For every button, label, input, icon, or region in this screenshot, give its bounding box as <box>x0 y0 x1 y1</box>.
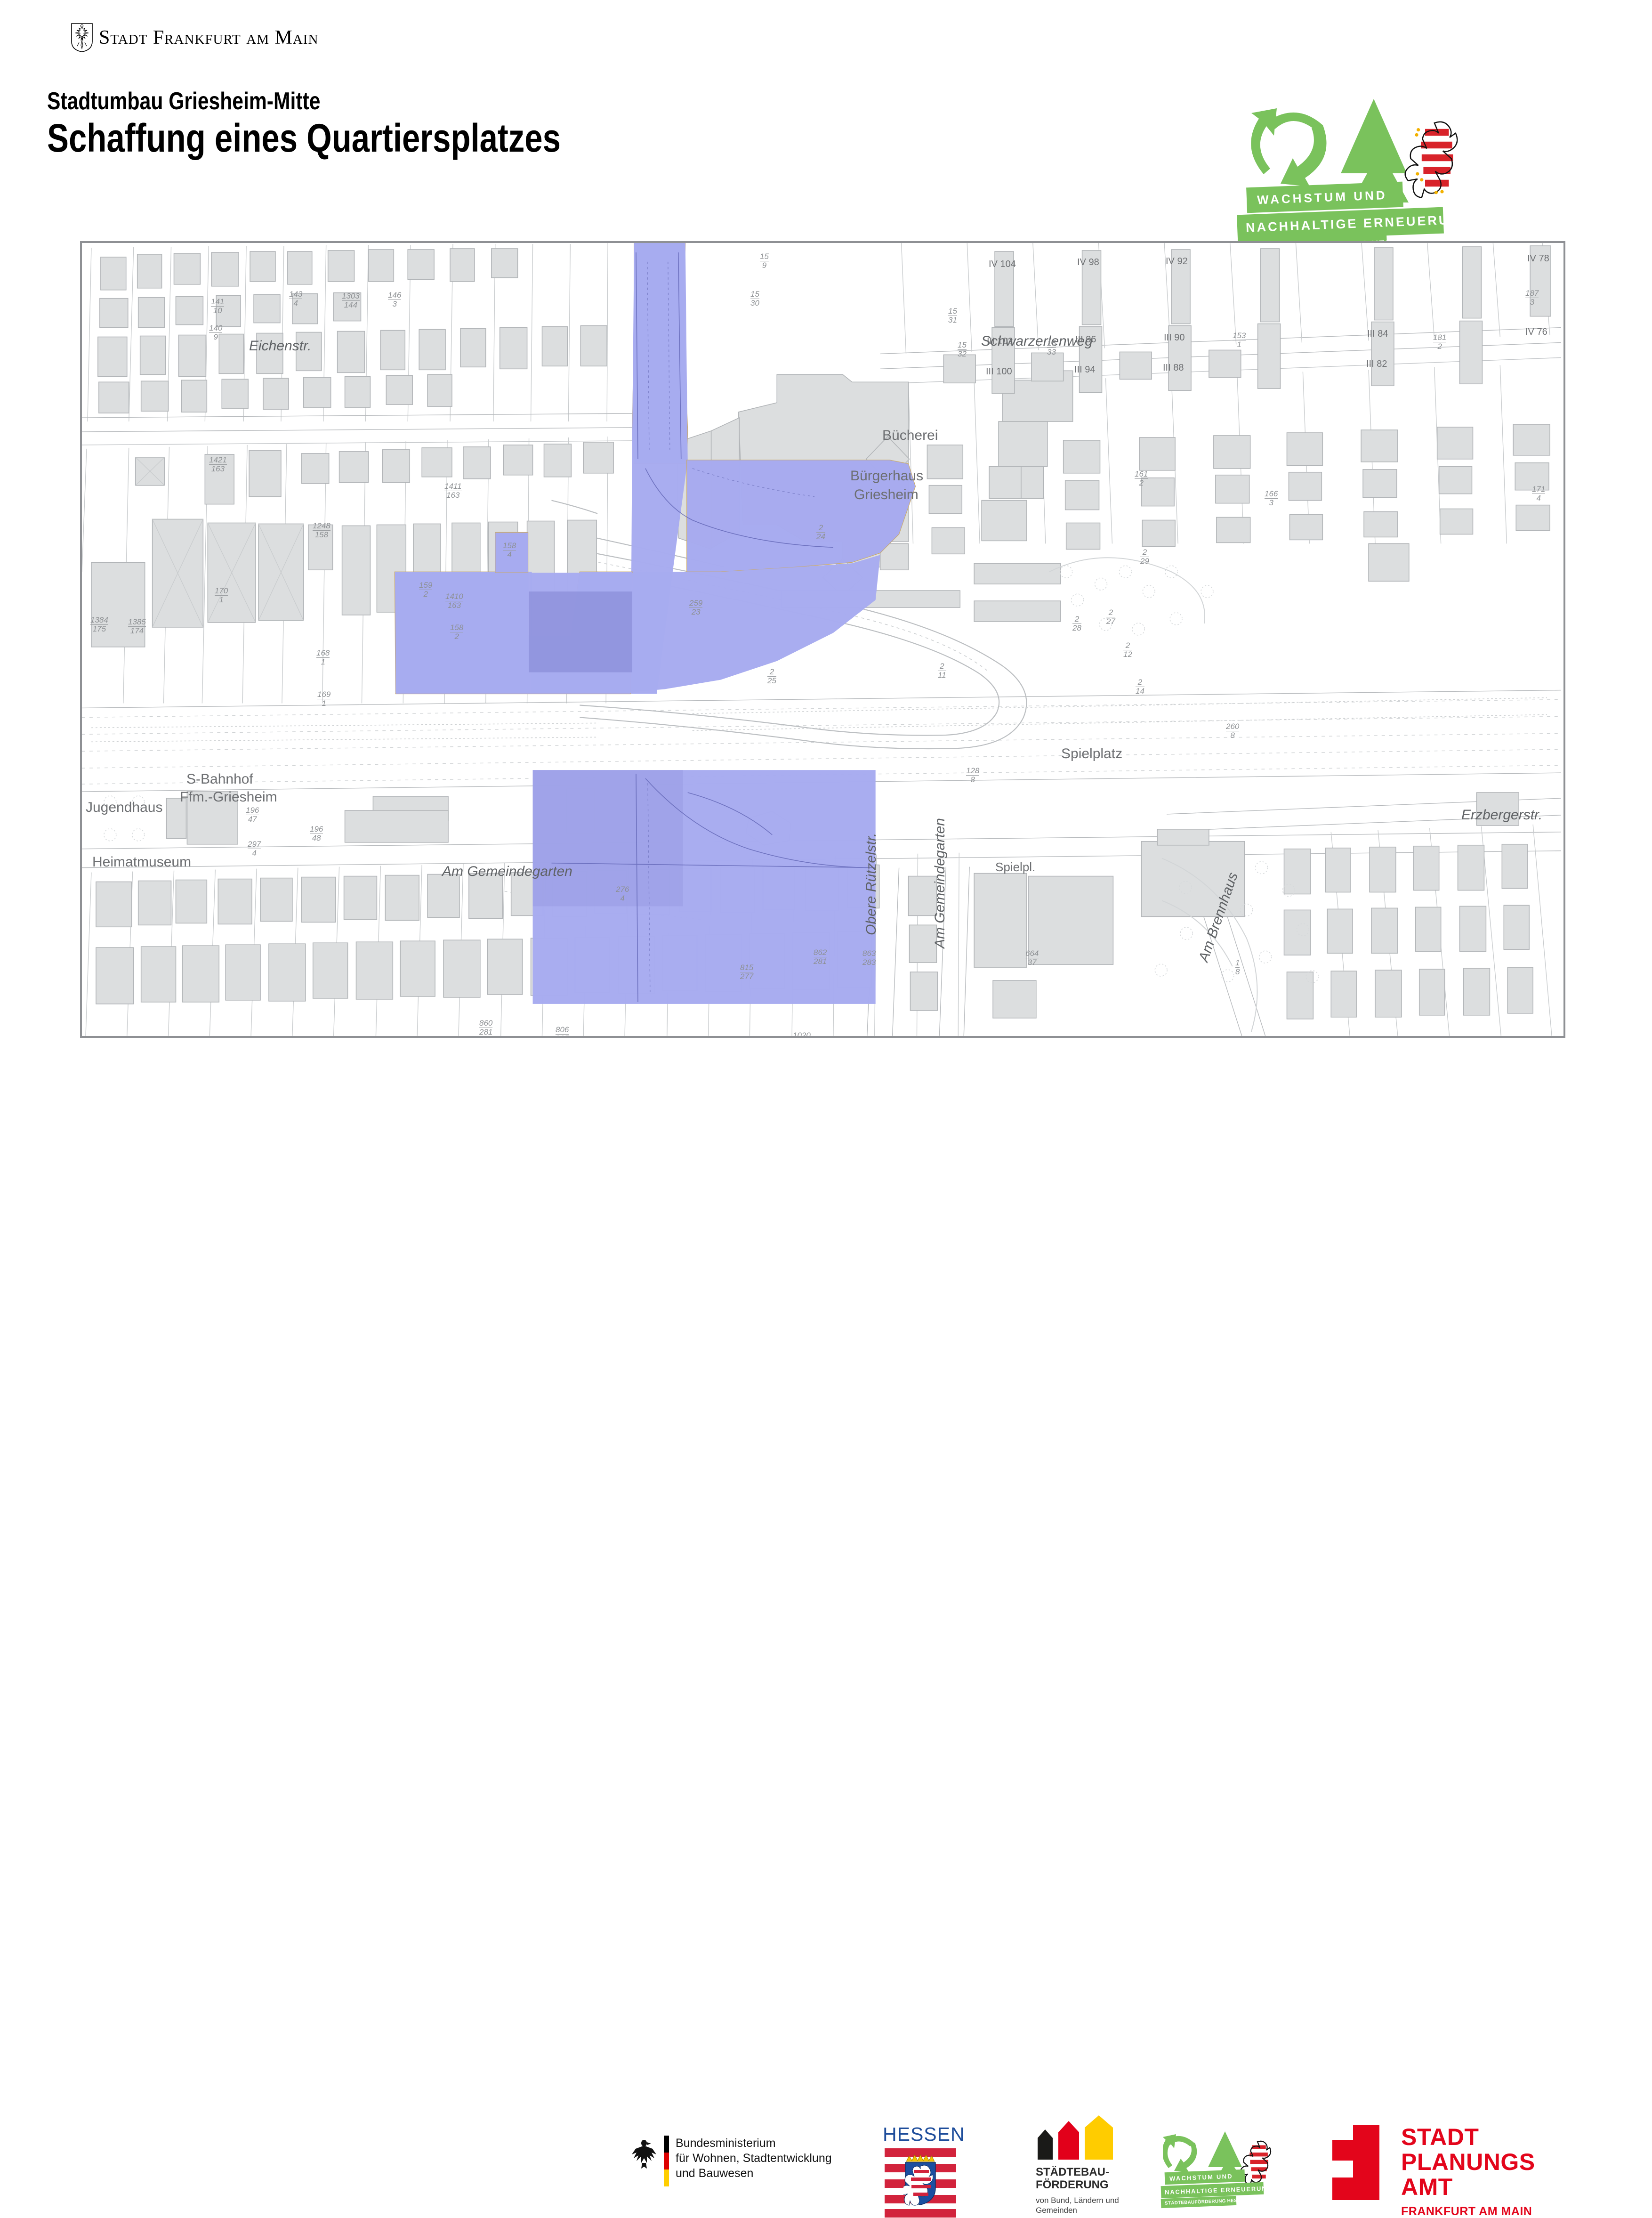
poi-label-griesheim: Griesheim <box>854 487 919 503</box>
parcel-label: 1812 <box>1433 333 1446 351</box>
parcel-label: 212 <box>1123 641 1132 659</box>
hessen-logo: HESSEN <box>883 2125 958 2218</box>
spa-line1: STADT <box>1401 2125 1535 2150</box>
house-number: IV 104 <box>989 259 1016 270</box>
poi-label-buecherei: Bücherei <box>882 428 938 444</box>
parcel-label: 806285 <box>556 1026 569 1038</box>
parcel-label: 1582 <box>450 623 463 641</box>
poi-label-spielpl: Spielpl. <box>995 860 1035 874</box>
parcel-label: 227 <box>1106 608 1115 626</box>
poi-label-jugendhaus: Jugendhaus <box>86 800 162 816</box>
house-number: III 102 <box>987 336 1013 347</box>
parcel-label: 66437 <box>1025 949 1039 967</box>
parcel-label: 229 <box>1140 548 1149 566</box>
street-label-eichenstr: Eichenstr. <box>249 338 311 354</box>
parcel-label: 2764 <box>616 885 629 903</box>
parcel-label: 1303144 <box>342 292 360 309</box>
poi-label-buergerhaus: Bürgerhaus <box>850 468 923 484</box>
parcel-label: 1530 <box>750 290 759 308</box>
parcel-label: 18 <box>1235 959 1240 976</box>
parcel-label: 1411163 <box>444 482 462 500</box>
spa-line3: AMT <box>1401 2175 1535 2200</box>
parcel-label: 2608 <box>1226 722 1239 740</box>
staedtebau-sub-line2: Gemeinden <box>1036 2206 1077 2215</box>
parcel-label: 815277 <box>740 963 753 981</box>
footer-logo-bar: Bundesministerium für Wohnen, Stadtentwi… <box>0 1060 1652 1168</box>
house-number: III 94 <box>1074 364 1095 375</box>
parcel-label: 25923 <box>689 599 702 616</box>
parcel-label: 863283 <box>862 949 876 967</box>
staedtebau-title: STÄDTEBAU- FÖRDERUNG <box>1036 2166 1119 2192</box>
hessen-flag-icon <box>885 2146 956 2218</box>
parcel-label: 19648 <box>310 825 323 842</box>
parcel-label: 14110 <box>211 298 224 315</box>
hessen-wordmark: HESSEN <box>883 2125 958 2144</box>
bundesministerium-logo: Bundesministerium für Wohnen, Stadtentwi… <box>631 2136 832 2186</box>
frankfurt-eagle-icon <box>70 23 94 53</box>
parcel-label: 1663 <box>1265 490 1278 507</box>
house-pictogram-icon <box>1036 2129 1119 2160</box>
parcel-label: 1385174 <box>128 618 146 635</box>
poi-label-spielplatz: Spielplatz <box>1061 746 1122 762</box>
parcel-label: 862281 <box>814 948 827 966</box>
parcel-label: 1681 <box>316 649 330 666</box>
parcel-label: 1584 <box>503 542 516 559</box>
staedtebau-sub-line1: von Bund, Ländern und <box>1036 2196 1119 2205</box>
street-label-erzbergerstr: Erzbergerstr. <box>1461 807 1542 823</box>
page-subtitle: Stadtumbau Griesheim-Mitte <box>47 87 320 115</box>
parcel-label: 159 <box>760 252 769 270</box>
staedtebau-subtitle: von Bund, Ländern und Gemeinden <box>1036 2195 1119 2216</box>
parcel-label: 1592 <box>419 581 432 599</box>
parcel-label: 1533 <box>1047 339 1056 356</box>
house-number: III 96 <box>1075 334 1096 345</box>
house-number: III 90 <box>1164 332 1185 343</box>
parcel-label: 1701 <box>215 587 228 604</box>
stadtplanungsamt-block-mark-icon <box>1332 2125 1385 2200</box>
cadastral-map[interactable]: Eichenstr. Schwarzerlenweg Erzbergerstr.… <box>80 241 1565 1038</box>
parcel-label: 1873 <box>1525 289 1539 307</box>
house-number: IV 92 <box>1166 256 1188 267</box>
parcel-label: 1248158 <box>313 522 330 539</box>
parcel-label: 1020285 <box>793 1031 811 1038</box>
parcel-label: 1384175 <box>90 616 108 633</box>
poi-label-s-bahnhof: S-Bahnhof <box>186 771 253 787</box>
city-logo: Stadt Frankfurt am Main <box>70 23 318 53</box>
parcel-label: 1463 <box>388 291 401 308</box>
street-label-am-gemeindegarten-vert: Am Gemeindegarten <box>932 818 948 948</box>
wachstum-logo-small: WACHSTUM UND NACHHALTIGE ERNEUERUNG STÄD… <box>1163 2128 1318 2212</box>
poi-label-ffm-griesheim: Ffm.-Griesheim <box>180 789 277 805</box>
german-flag-bar <box>664 2136 669 2186</box>
parcel-label: 1714 <box>1532 485 1545 502</box>
staedtebau-title-line2: FÖRDERUNG <box>1036 2178 1109 2191</box>
bmwsb-line3: und Bauwesen <box>676 2167 753 2180</box>
poi-label-heimatmuseum: Heimatmuseum <box>92 854 191 870</box>
parcel-label: 211 <box>938 662 946 680</box>
parcel-label: 1532 <box>958 341 967 358</box>
bundesministerium-text: Bundesministerium für Wohnen, Stadtentwi… <box>676 2136 832 2181</box>
bmwsb-line1: Bundesministerium <box>676 2137 776 2150</box>
house-number: IV 76 <box>1525 327 1547 338</box>
parcel-label: 228 <box>1072 615 1081 632</box>
parcel-label: 1434 <box>289 290 302 308</box>
highlight-parcel-dark <box>529 591 632 672</box>
street-label-am-gemeindegarten-horiz: Am Gemeindegarten <box>442 864 572 880</box>
parcel-label: 1612 <box>1135 470 1148 487</box>
house-number: III 88 <box>1163 363 1184 373</box>
stadtplanungsamt-logo: STADT PLANUNGS AMT FRANKFURT AM MAIN <box>1332 2125 1535 2218</box>
house-number: IV 98 <box>1077 257 1099 268</box>
parcel-label: 1421163 <box>209 456 227 473</box>
parcel-label: 1531 <box>948 307 957 324</box>
parcel-label: 1409 <box>209 324 222 341</box>
parcel-label: 214 <box>1136 678 1144 696</box>
parcel-label: 860281 <box>479 1019 492 1036</box>
bmwsb-line2: für Wohnen, Stadtentwicklung <box>676 2152 832 2165</box>
map-vector-layer <box>82 243 1563 1038</box>
parcel-label: 225 <box>767 668 776 685</box>
parcel-label: 1288 <box>966 767 979 784</box>
house-number: IV 78 <box>1527 253 1549 264</box>
page-title: Schaffung eines Quartiersplatzes <box>47 115 561 161</box>
parcel-label: 2974 <box>248 840 261 858</box>
parcel-label: 224 <box>816 524 825 541</box>
parcel-label: 19647 <box>246 806 259 824</box>
spa-line4: FRANKFURT AM MAIN <box>1401 2205 1535 2218</box>
spa-line2: PLANUNGS <box>1401 2150 1535 2175</box>
parcel-label: 1410163 <box>445 592 463 610</box>
house-number: III 84 <box>1367 329 1388 340</box>
house-number: III 100 <box>986 366 1012 377</box>
parcel-label: 1531 <box>1233 332 1246 349</box>
staedtebau-title-line1: STÄDTEBAU- <box>1036 2166 1109 2178</box>
staedtebaufoerderung-logo: STÄDTEBAU- FÖRDERUNG von Bund, Ländern u… <box>1036 2129 1119 2215</box>
street-label-obere-ruetzelstr: Obere Rützelstr. <box>863 833 879 935</box>
city-logo-text: Stadt Frankfurt am Main <box>99 28 318 48</box>
bundesadler-icon <box>631 2136 657 2169</box>
house-number: III 82 <box>1366 359 1387 370</box>
parcel-label: 1691 <box>317 690 330 708</box>
stadtplanungsamt-wordmark: STADT PLANUNGS AMT FRANKFURT AM MAIN <box>1401 2125 1535 2218</box>
